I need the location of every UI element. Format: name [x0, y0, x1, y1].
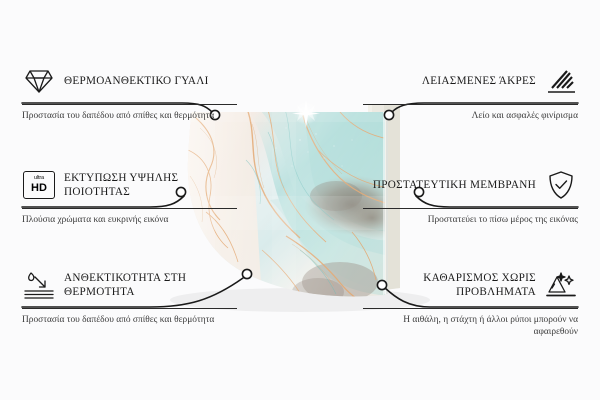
feature-polished-edges: ΛΕΙΑΣΜΕΝΕΣ ΆΚΡΕΣ Λείο και ασφαλές φινίρι…: [363, 62, 578, 122]
feature-heat-resistant-glass: ΘΕΡΜΟΑΝΘΕΚΤΙΚΟ ΓΥΑΛΙ Προστασία του δαπέδ…: [22, 62, 237, 122]
divider: [363, 308, 578, 309]
feature-description: Η αιθάλη, η στάχτη ή άλλοι ρύποι μπορούν…: [363, 314, 578, 339]
feature-high-quality-print: ultra HD ΕΚΤΥΠΩΣΗ ΥΨΗΛΗΣ ΠΟΙΟΤΗΤΑΣ Πλούσ…: [22, 166, 237, 226]
feature-title: ΑΝΘΕΚΤΙΚΟΤΗΤΑ ΣΤΗ ΘΕΡΜΟΤΗΤΑ: [64, 271, 237, 299]
polished-edges-icon: [544, 65, 578, 97]
feature-title: ΘΕΡΜΟΑΝΘΕΚΤΙΚΟ ΓΥΑΛΙ: [64, 74, 209, 88]
diamond-icon: [22, 65, 56, 97]
feature-heat-durability: ΑΝΘΕΚΤΙΚΟΤΗΤΑ ΣΤΗ ΘΕΡΜΟΤΗΤΑ Προστασία το…: [22, 266, 237, 326]
feature-title: ΛΕΙΑΣΜΕΝΕΣ ΆΚΡΕΣ: [422, 74, 536, 88]
heat-deflection-icon: [22, 269, 56, 301]
easy-clean-icon: [544, 269, 578, 301]
divider: [22, 104, 237, 105]
feature-title: ΠΡΟΣΤΑΤΕΥΤΙΚΗ ΜΕΜΒΡΑΝΗ: [373, 178, 536, 192]
ultra-hd-icon-bottom: HD: [31, 183, 47, 194]
feature-description: Πλούσια χρώματα και ευκρινής εικόνα: [22, 214, 237, 226]
feature-description: Προστατεύει το πίσω μέρος της εικόνας: [363, 214, 578, 226]
divider: [22, 308, 237, 309]
infographic-canvas: ΘΕΡΜΟΑΝΘΕΚΤΙΚΟ ΓΥΑΛΙ Προστασία του δαπέδ…: [0, 0, 600, 400]
ultra-hd-icon: ultra HD: [22, 169, 56, 201]
feature-description: Προστασία του δαπέδου από σπίθες και θερ…: [22, 110, 237, 122]
feature-title: ΚΑΘΑΡΙΣΜΟΣ ΧΩΡΙΣ ΠΡΟΒΛΗΜΑΤΑ: [363, 271, 536, 299]
feature-description: Προστασία του δαπέδου από σπίθες και θερ…: [22, 314, 237, 326]
feature-description: Λείο και ασφαλές φινίρισμα: [363, 110, 578, 122]
shield-check-icon: [544, 169, 578, 201]
ultra-hd-icon-top: ultra: [34, 176, 44, 181]
feature-title: ΕΚΤΥΠΩΣΗ ΥΨΗΛΗΣ ΠΟΙΟΤΗΤΑΣ: [64, 171, 237, 199]
divider: [363, 208, 578, 209]
feature-protective-membrane: ΠΡΟΣΤΑΤΕΥΤΙΚΗ ΜΕΜΒΡΑΝΗ Προστατεύει το πί…: [363, 166, 578, 226]
feature-easy-cleaning: ΚΑΘΑΡΙΣΜΟΣ ΧΩΡΙΣ ΠΡΟΒΛΗΜΑΤΑ Η αιθάλη, η …: [363, 266, 578, 339]
divider: [363, 104, 578, 105]
divider: [22, 208, 237, 209]
